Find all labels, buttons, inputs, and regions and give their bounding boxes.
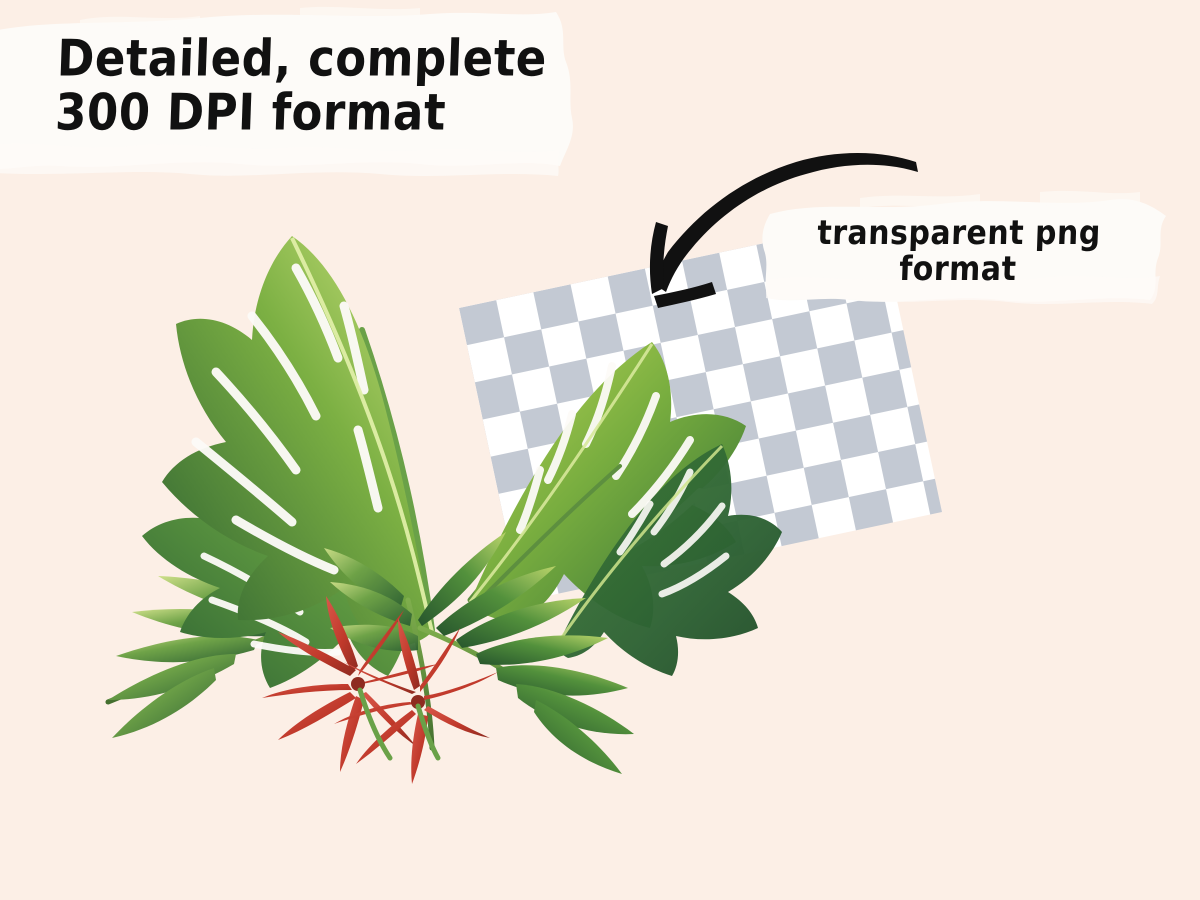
poster-canvas: Detailed, complete 300 DPI format transp… xyxy=(0,0,1200,900)
banner-top-left-line1: Detailed, complete xyxy=(56,29,548,88)
banner-right-line2: format xyxy=(899,249,1018,288)
banner-top-left-line2: 300 DPI format xyxy=(54,82,447,141)
banner-right-line1: transparent png xyxy=(817,214,1102,253)
banner-right-text: transparent png format xyxy=(816,216,1102,287)
banner-top-left-text: Detailed, complete 300 DPI format xyxy=(54,32,547,139)
